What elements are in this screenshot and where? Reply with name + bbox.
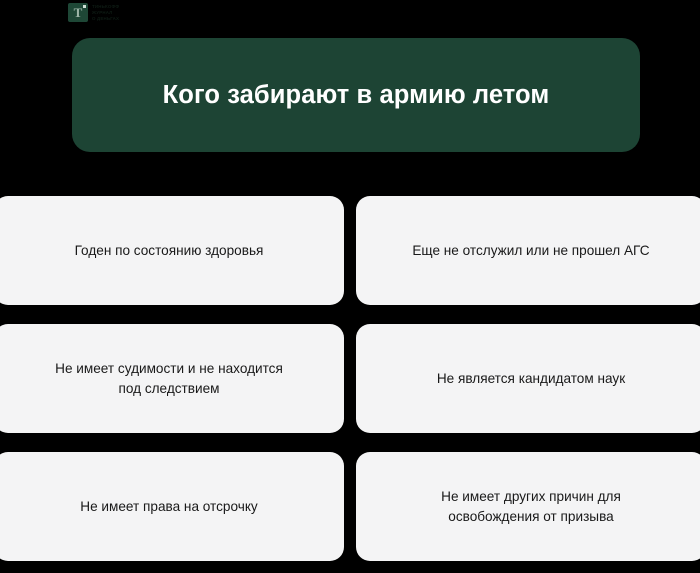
wordmark-line-1: ТИНЬКОФФ <box>92 4 119 9</box>
brand-logo: T ТИНЬКОФФ ЖУРНАЛ О ДЕНЬГАХ <box>68 3 119 22</box>
criteria-card-text: Не имеет других причин для освобождения … <box>441 487 621 527</box>
card-row: Не имеет судимости и не находится под сл… <box>0 324 700 433</box>
page-title: Кого забирают в армию летом <box>163 80 550 110</box>
criteria-card: Не имеет права на отсрочку <box>0 452 344 561</box>
criteria-card-text: Не имеет судимости и не находится под сл… <box>55 359 283 399</box>
criteria-card-text: Еще не отслужил или не прошел АГС <box>412 241 649 261</box>
card-row: Не имеет права на отсрочку Не имеет друг… <box>0 452 700 561</box>
logo-dot <box>83 5 86 8</box>
criteria-card-text: Не является кандидатом наук <box>437 369 625 389</box>
criteria-card-grid: Годен по состоянию здоровья Еще не отслу… <box>0 196 700 561</box>
wordmark-line-2: ЖУРНАЛ <box>92 10 119 15</box>
criteria-card-text: Не имеет права на отсрочку <box>80 497 257 517</box>
criteria-card: Годен по состоянию здоровья <box>0 196 344 305</box>
tinkoff-journal-logo-icon: T <box>68 3 88 22</box>
criteria-card: Не является кандидатом наук <box>356 324 700 433</box>
card-row: Годен по состоянию здоровья Еще не отслу… <box>0 196 700 305</box>
brand-wordmark: ТИНЬКОФФ ЖУРНАЛ О ДЕНЬГАХ <box>92 4 119 21</box>
criteria-card: Не имеет других причин для освобождения … <box>356 452 700 561</box>
criteria-card-text: Годен по состоянию здоровья <box>75 241 264 261</box>
criteria-card: Еще не отслужил или не прошел АГС <box>356 196 700 305</box>
criteria-card: Не имеет судимости и не находится под сл… <box>0 324 344 433</box>
title-banner: Кого забирают в армию летом <box>72 38 640 152</box>
wordmark-line-3: О ДЕНЬГАХ <box>92 16 119 21</box>
